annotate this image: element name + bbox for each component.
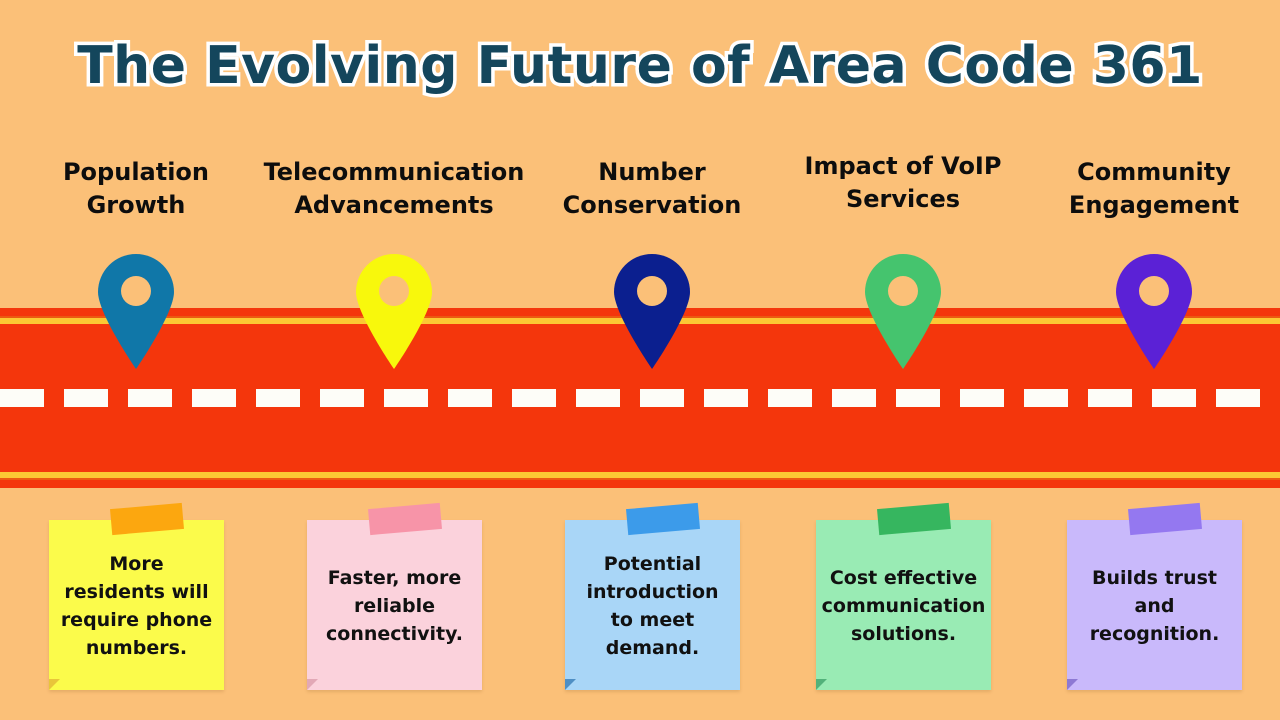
column-header-line: Engagement bbox=[994, 189, 1280, 222]
sticky-note: Potential introduction to meet demand. bbox=[565, 506, 740, 696]
sticky-note: Builds trust and recognition. bbox=[1067, 506, 1242, 696]
sticky-note: Cost effective communication solutions. bbox=[816, 506, 991, 696]
sticky-note-text: Cost effective communication solutions. bbox=[822, 565, 986, 649]
column-header-line: Community bbox=[994, 156, 1280, 189]
sticky-note-text: Faster, more reliable connectivity. bbox=[315, 565, 474, 649]
sticky-note-folded-corner bbox=[49, 679, 60, 690]
sticky-note-text: Builds trust and recognition. bbox=[1075, 565, 1234, 649]
sticky-note-folded-corner bbox=[565, 679, 576, 690]
sticky-note-folded-corner bbox=[816, 679, 827, 690]
sticky-note-text: More residents will require phone number… bbox=[57, 551, 216, 663]
sticky-note-body: Builds trust and recognition. bbox=[1067, 520, 1242, 690]
sticky-note-text: Potential introduction to meet demand. bbox=[573, 551, 732, 663]
sticky-note-body: More residents will require phone number… bbox=[49, 520, 224, 690]
road-center-dashed-line bbox=[0, 389, 1280, 407]
sticky-note-folded-corner bbox=[1067, 679, 1078, 690]
sticky-note-folded-corner bbox=[307, 679, 318, 690]
road-bottom-stripe bbox=[0, 472, 1280, 488]
sticky-note: Faster, more reliable connectivity. bbox=[307, 506, 482, 696]
column-header: CommunityEngagement bbox=[994, 156, 1280, 222]
road-stripe-red-band bbox=[0, 480, 1280, 488]
page-title: The Evolving Future of Area Code 361 bbox=[0, 36, 1280, 96]
column-headers: PopulationGrowthTelecommunicationAdvance… bbox=[0, 150, 1280, 240]
sticky-note-body: Faster, more reliable connectivity. bbox=[307, 520, 482, 690]
sticky-note-body: Potential introduction to meet demand. bbox=[565, 520, 740, 690]
sticky-note-body: Cost effective communication solutions. bbox=[816, 520, 991, 690]
sticky-note: More residents will require phone number… bbox=[49, 506, 224, 696]
